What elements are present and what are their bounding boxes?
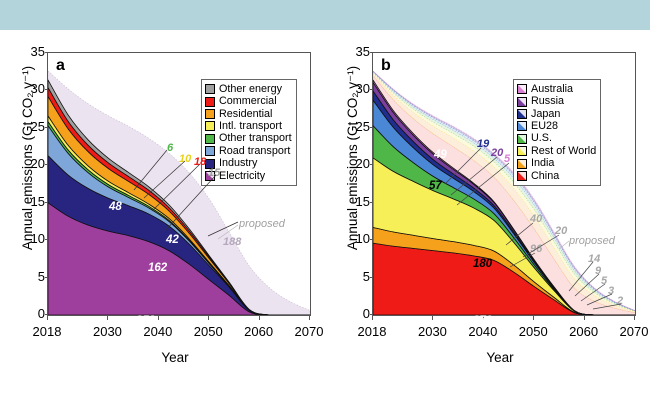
legend-item[interactable]: Commercial (205, 95, 292, 107)
callout-value-label: 188 (223, 236, 241, 248)
x-tick-label: 2060 (234, 324, 284, 339)
legend-item[interactable]: Russia (517, 95, 596, 107)
legend-swatch-icon (205, 121, 215, 131)
callout-value-label: 14 (588, 253, 600, 265)
y-tick-label: 10 (336, 232, 370, 245)
y-tick-label: 30 (336, 82, 370, 95)
x-tick-label: 2050 (183, 324, 233, 339)
plot-area-a: a Other energyCommercialResidentialIntl.… (47, 52, 311, 316)
legend-label: India (531, 158, 554, 169)
figure-root: Annual emissions (Gt CO₂ y⁻¹) 0510152025… (0, 0, 650, 400)
legend-swatch-icon (517, 171, 527, 181)
callout-value-label: 20 (491, 147, 503, 159)
legend-label: Australia (531, 84, 573, 95)
callout-value-label: 20 (555, 225, 567, 237)
legend-item[interactable]: China (517, 170, 596, 182)
legend-label: Residential (219, 109, 272, 120)
y-tick-label: 10 (11, 232, 45, 245)
legend-label: Japan (531, 109, 560, 120)
y-tick-label: 25 (336, 120, 370, 133)
legend-label: Electricity (219, 171, 265, 182)
legend-item[interactable]: Road transport (205, 145, 292, 157)
y-tick-label: 15 (336, 195, 370, 208)
legend-item[interactable]: EU28 (517, 120, 596, 132)
legend-label: Commercial (219, 96, 277, 107)
legend-item[interactable]: Rest of World (517, 145, 596, 157)
x-axis-label-b: Year (365, 350, 635, 365)
legend-swatch-icon (205, 109, 215, 119)
legend-item[interactable]: Residential (205, 108, 292, 120)
x-tick-label: 2070 (609, 324, 650, 339)
x-tick-label: 2018 (22, 324, 72, 339)
panel-a: Annual emissions (Gt CO₂ y⁻¹) 0510152025… (0, 30, 325, 375)
x-tick-label: 2018 (347, 324, 397, 339)
y-axis-ticks-b: 05101520253035 (330, 30, 370, 320)
legend-b: AustraliaRussiaJapanEU28U.S.Rest of Worl… (513, 79, 601, 186)
callout-value-label: 2 (617, 295, 623, 307)
legend-swatch-icon (517, 84, 527, 94)
legend-swatch-icon (517, 109, 527, 119)
callout-value-label: 40 (530, 213, 542, 225)
legend-item[interactable]: U.S. (517, 133, 596, 145)
legend-label: Road transport (219, 146, 290, 157)
area-value-label: 162 (148, 262, 167, 274)
panel-letter-a: a (56, 57, 65, 75)
legend-item[interactable]: Japan (517, 108, 596, 120)
plot-area-b: b AustraliaRussiaJapanEU28U.S.Rest of Wo… (372, 52, 636, 316)
legend-item[interactable]: Australia (517, 83, 596, 95)
legend-label: Other transport (219, 133, 292, 144)
callout-value-label: 3 (608, 285, 614, 297)
area-value-label: 270 (473, 315, 492, 327)
legend-label: EU28 (531, 121, 558, 132)
legend-label: China (531, 171, 559, 182)
panel-b: Annual emissions (Gt CO₂ y⁻¹) 0510152025… (325, 30, 650, 375)
x-axis-ticks-a: 201820302040205020602070 (0, 316, 320, 340)
callout-value-label: 19 (477, 138, 489, 150)
y-tick-label: 5 (336, 270, 370, 283)
legend-swatch-icon (205, 146, 215, 156)
y-tick-label: 30 (11, 82, 45, 95)
legend-swatch-icon (517, 146, 527, 156)
legend-label: U.S. (531, 133, 552, 144)
legend-label: Intl. transport (219, 121, 282, 132)
y-tick-label: 5 (11, 270, 45, 283)
callout-value-label: 18 (194, 156, 206, 168)
y-tick-label: 35 (336, 45, 370, 58)
legend-item[interactable]: India (517, 157, 596, 169)
callout-value-label: 5 (601, 275, 607, 287)
area-value-label: 49 (434, 149, 447, 161)
y-tick-label: 35 (11, 45, 45, 58)
area-value-label: 42 (166, 234, 179, 246)
legend-label: Russia (531, 96, 564, 107)
callout-value-label: 6 (167, 142, 173, 154)
x-tick-label: 2030 (407, 324, 457, 339)
y-tick-label: 15 (11, 195, 45, 208)
legend-swatch-icon (205, 84, 215, 94)
callout-value-label: 15 (208, 167, 220, 179)
x-axis-label-a: Year (40, 350, 310, 365)
legend-swatch-icon (517, 134, 527, 144)
legend-item[interactable]: Other energy (205, 83, 292, 95)
proposed-label: proposed (239, 218, 285, 230)
x-tick-label: 2060 (559, 324, 609, 339)
panel-letter-b: b (381, 57, 391, 75)
callout-value-label: 10 (179, 153, 191, 165)
legend-swatch-icon (517, 97, 527, 107)
y-tick-label: 20 (11, 157, 45, 170)
area-value-label: 358 (136, 315, 155, 327)
x-tick-label: 2050 (508, 324, 558, 339)
legend-swatch-icon (517, 121, 527, 131)
legend-label: Other energy (219, 84, 282, 95)
legend-swatch-icon (205, 97, 215, 107)
y-tick-label: 20 (336, 157, 370, 170)
area-value-label: 48 (109, 201, 122, 213)
top-banner-bar (0, 0, 650, 30)
area-value-label: 57 (429, 180, 442, 192)
y-axis-ticks-a: 05101520253035 (5, 30, 45, 320)
callout-value-label: 96 (530, 243, 542, 255)
legend-item[interactable]: Other transport (205, 133, 292, 145)
legend-label: Industry (219, 158, 257, 169)
legend-item[interactable]: Intl. transport (205, 120, 292, 132)
legend-swatch-icon (517, 159, 527, 169)
callout-value-label: 5 (504, 153, 510, 165)
proposed-label: proposed (569, 235, 615, 247)
area-value-label: 180 (473, 258, 492, 270)
x-tick-label: 2030 (82, 324, 132, 339)
legend-swatch-icon (205, 134, 215, 144)
y-tick-label: 25 (11, 120, 45, 133)
legend-label: Rest of World (531, 146, 596, 157)
